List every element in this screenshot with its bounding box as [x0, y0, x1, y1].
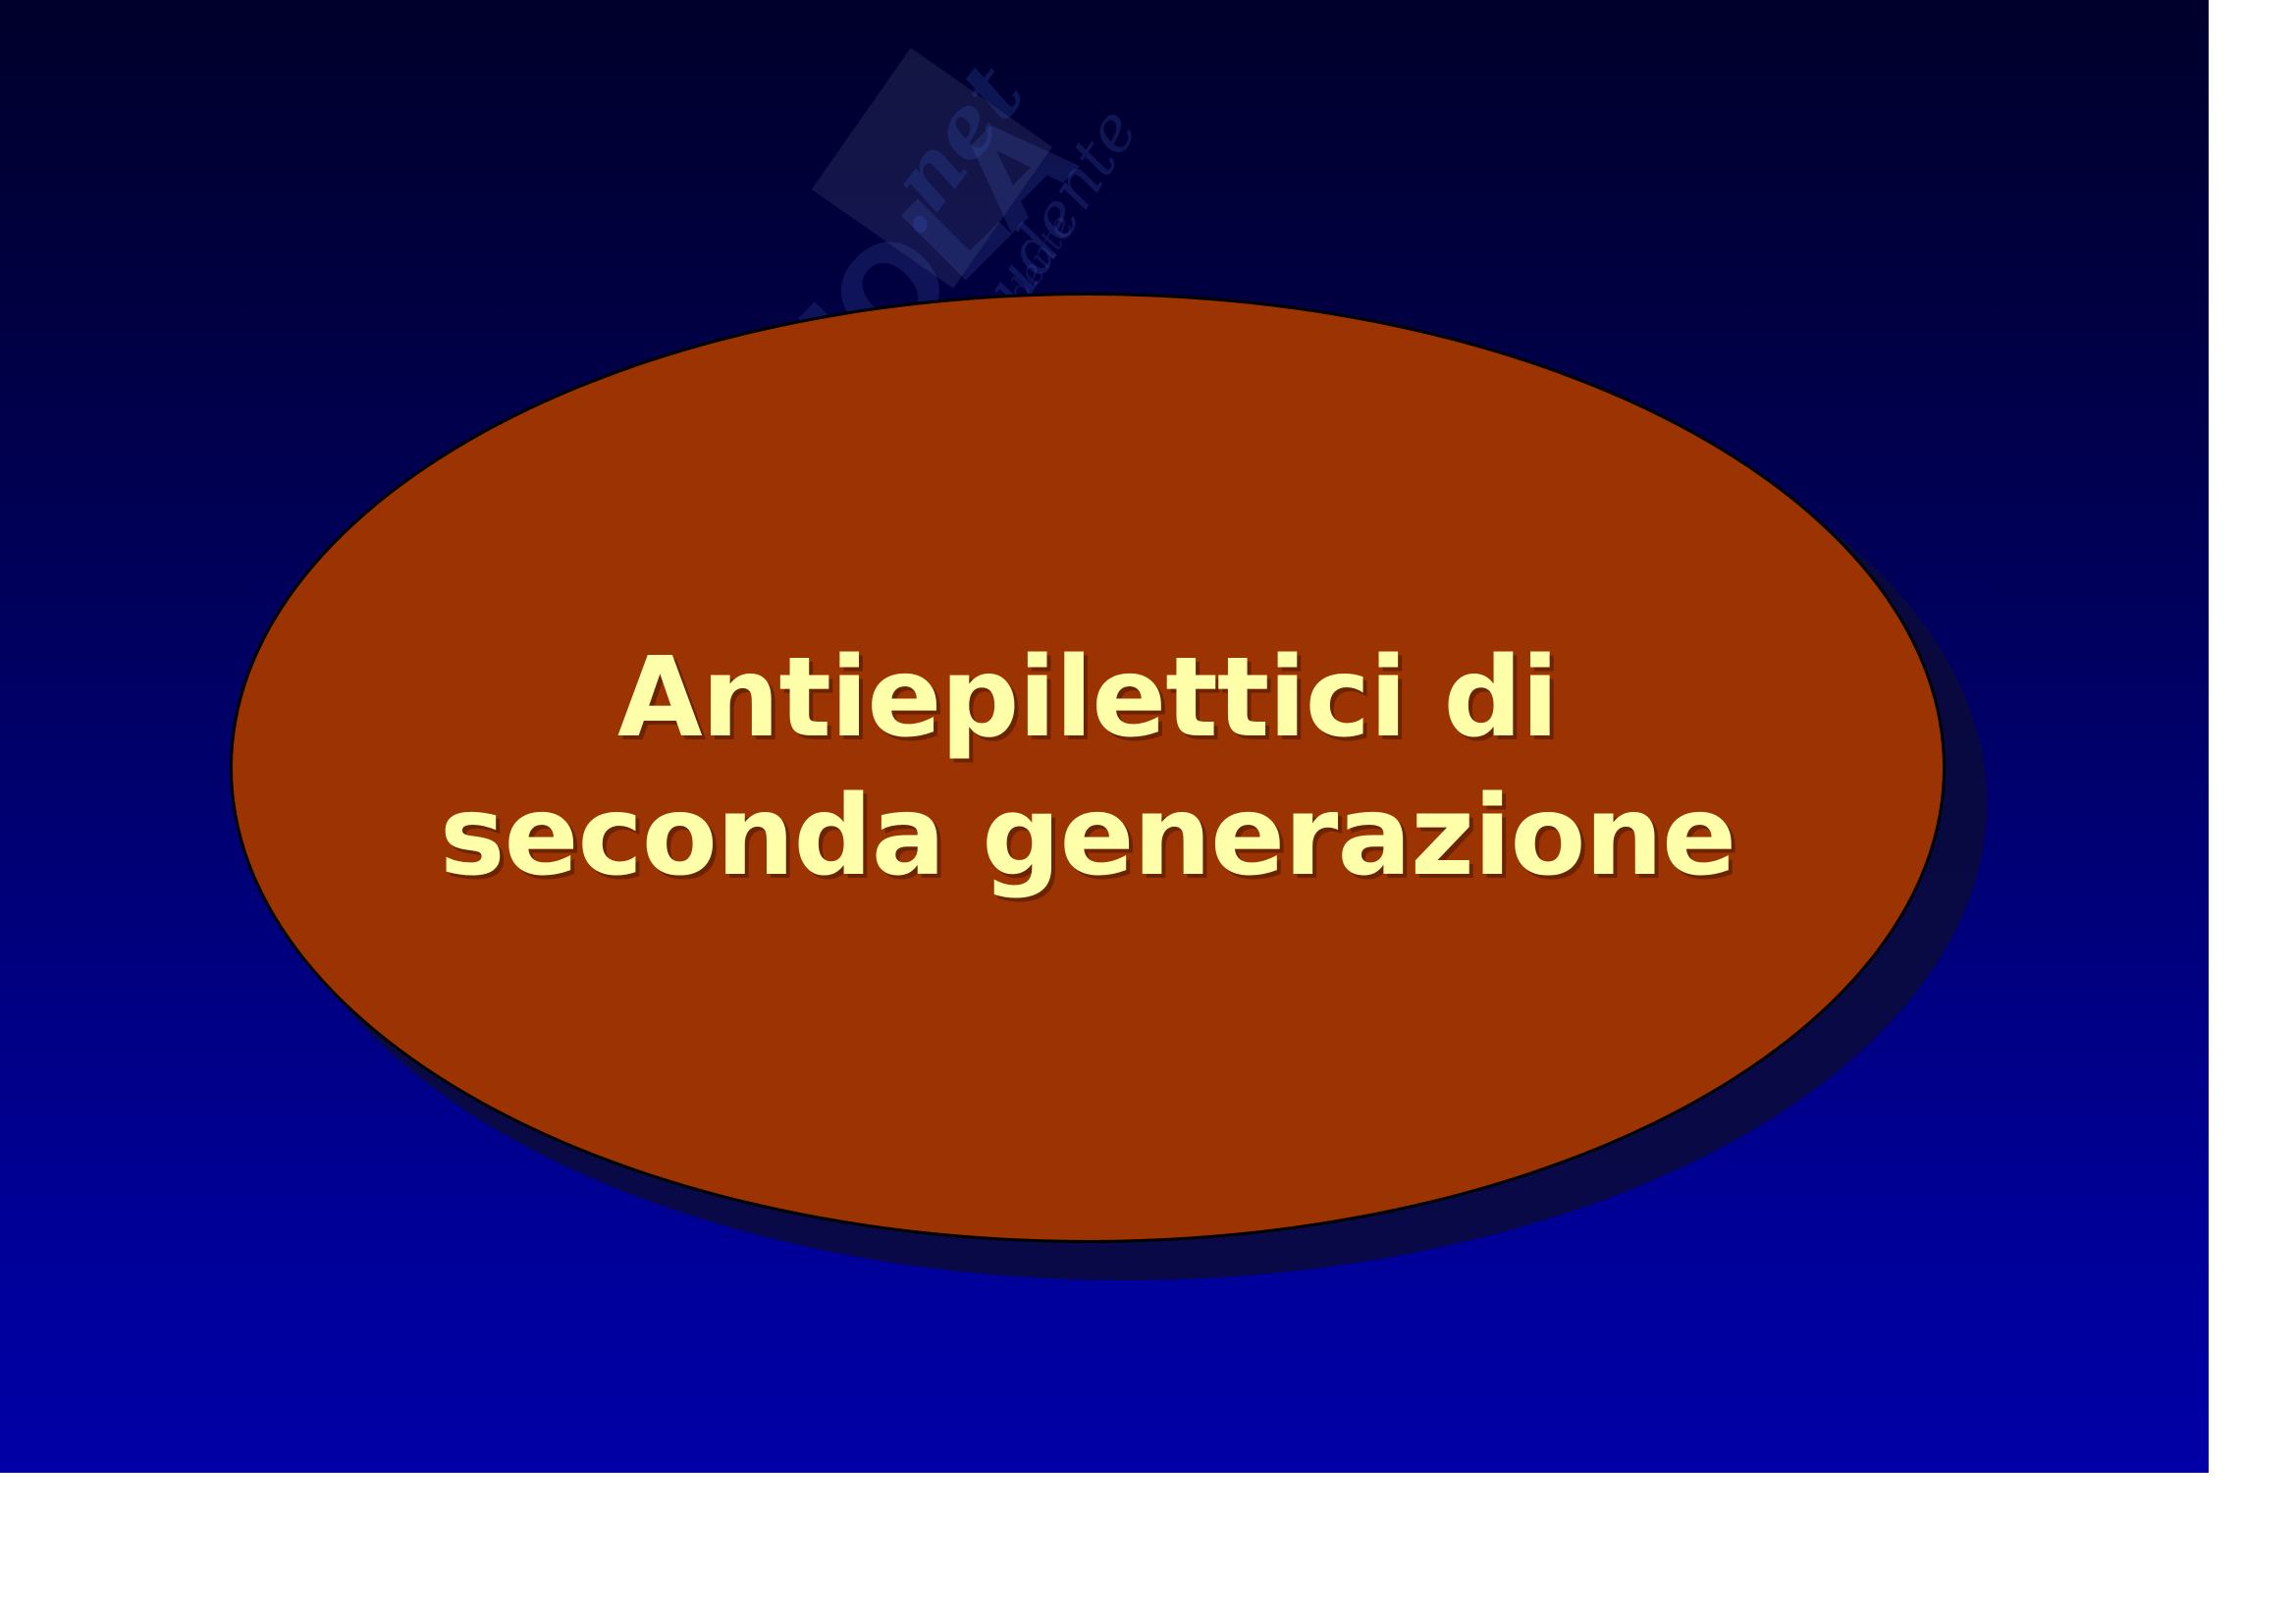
page-title: Antiepilettici di seconda generazione	[420, 629, 1755, 906]
watermark-badge-shape	[812, 48, 1052, 289]
watermark-domain-text: .net	[854, 46, 1043, 252]
slide-canvas: SKUOLA .net studente il portale dello st…	[0, 0, 2209, 1473]
title-ellipse-shape: Antiepilettici di seconda generazione	[230, 293, 1946, 1243]
